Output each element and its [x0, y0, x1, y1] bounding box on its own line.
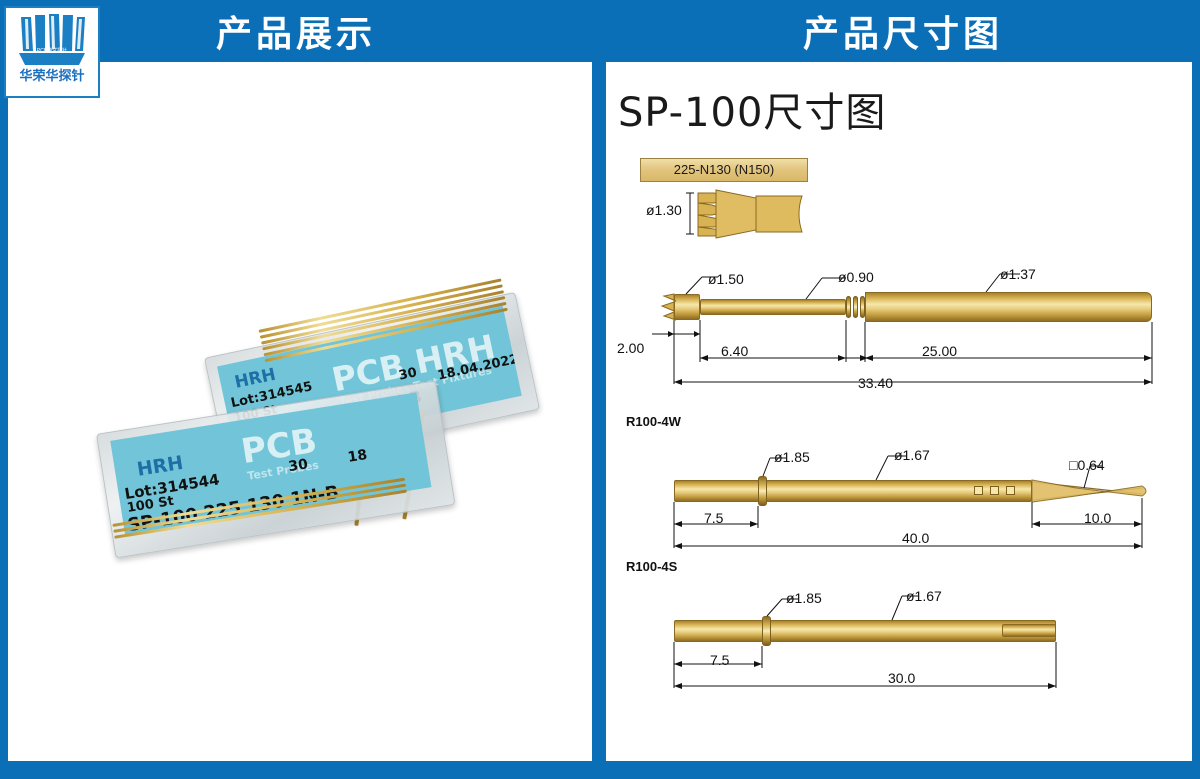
product-photo-panel: HRH PCB HRH Test Probes Test Fixtures Lo…: [8, 62, 592, 761]
right-panel-header: 产品尺寸图: [606, 0, 1200, 62]
panel-divider: [592, 0, 606, 765]
code-front: 30: [287, 456, 309, 475]
date-front: 18: [347, 447, 369, 466]
product-page: 产品展示 产品尺寸图 HRH PCB HRH Test Probes Test …: [0, 0, 1200, 779]
logo-company-name: 华荣华探针: [19, 69, 84, 85]
product-photo: HRH PCB HRH Test Probes Test Fixtures Lo…: [8, 62, 592, 761]
logo-inner-text: PCB测试探针: [37, 47, 67, 54]
frame-right-border: [1192, 0, 1200, 779]
right-header-title: 产品尺寸图: [803, 5, 1003, 57]
frame-left-border: [0, 0, 8, 779]
left-header-title: 产品展示: [216, 5, 376, 57]
company-logo: PCB测试探针 华荣华探针: [4, 6, 100, 98]
crown-probe-tip-icon: PCB测试探针: [15, 11, 89, 69]
receptacle-s-dimension-lines: [606, 62, 1192, 761]
dimension-drawing-panel: SP-100尺寸图 225-N130 (N150) ø1.30 ø1.50 ø0…: [606, 62, 1192, 761]
